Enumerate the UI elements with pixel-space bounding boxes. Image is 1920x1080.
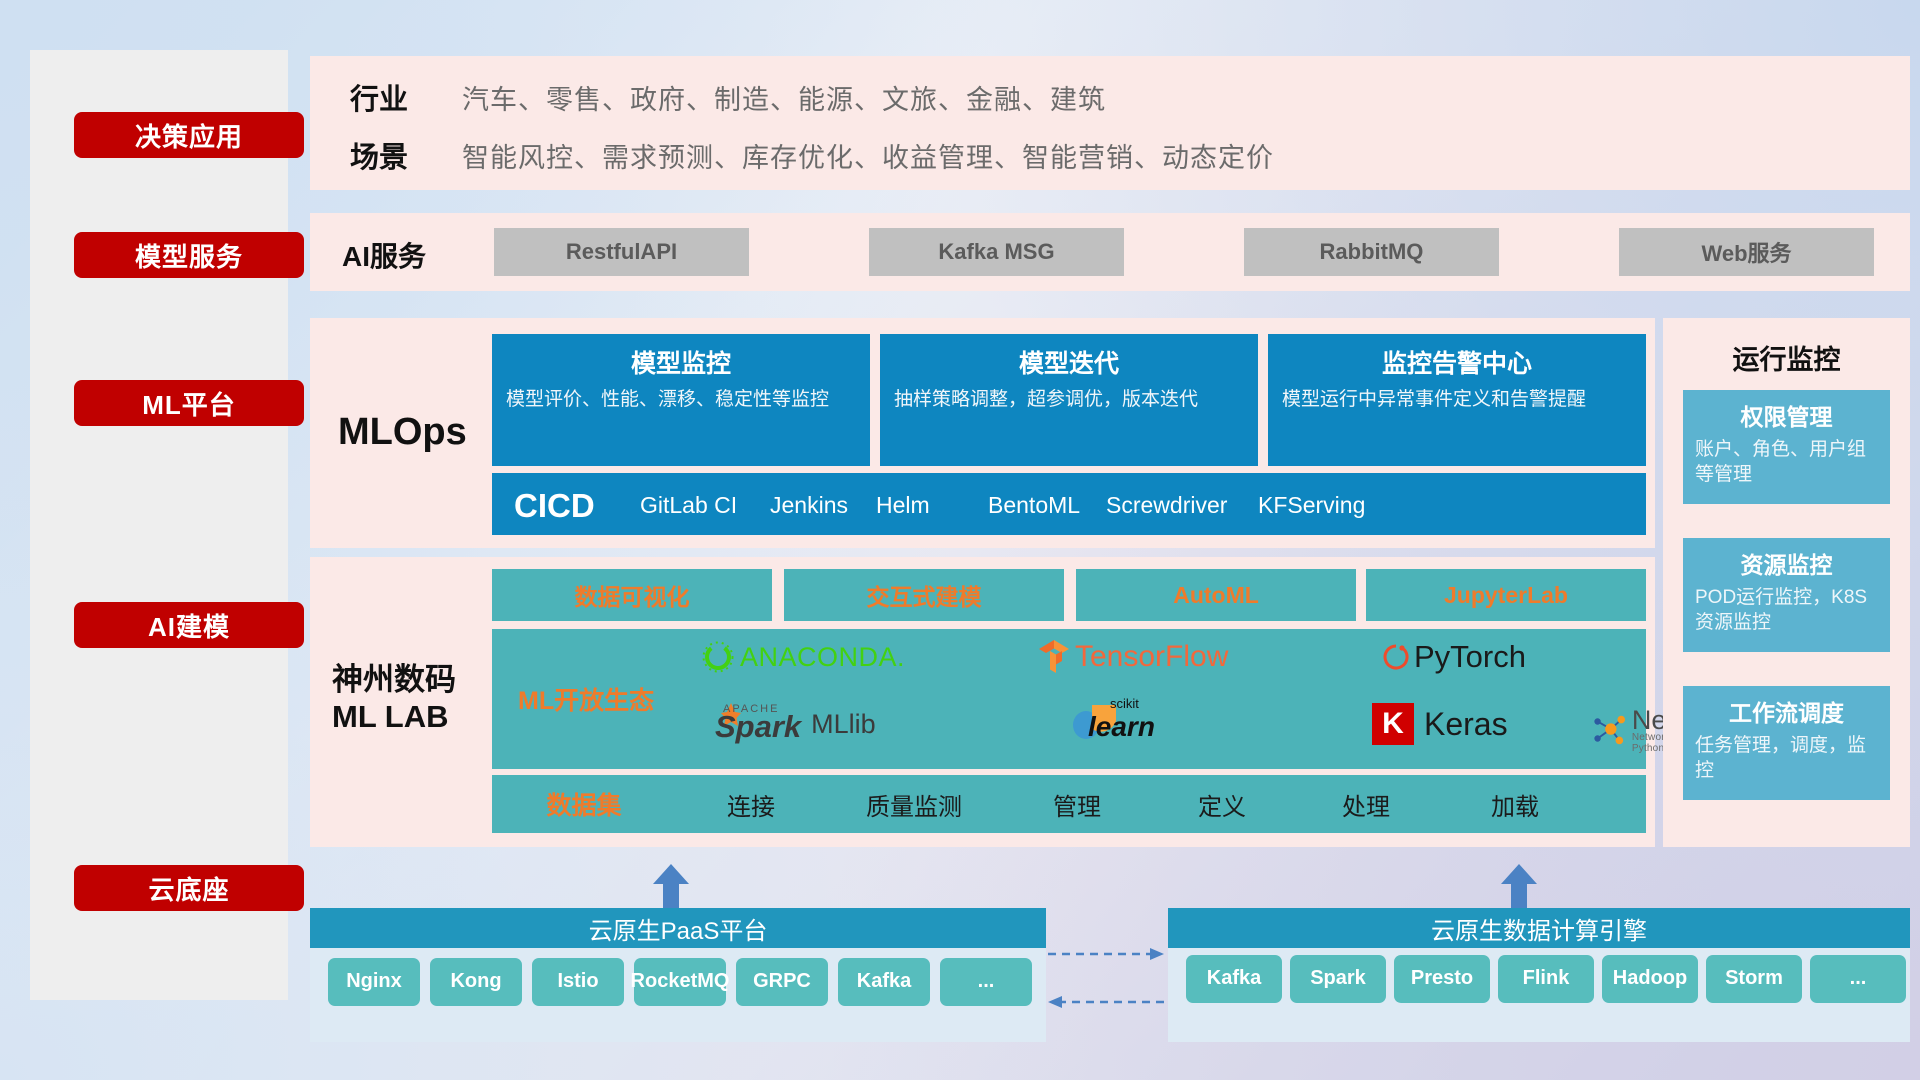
chip-hadoop[interactable]: Hadoop [1602,955,1698,1003]
monitoring-card-permission[interactable]: 权限管理 账户、角色、用户组等管理 [1683,390,1890,504]
spark-mllib-logo: APACHE Spark MLlib [707,703,876,745]
mlops-card-alert-center[interactable]: 监控告警中心 模型运行中异常事件定义和告警提醒 [1268,334,1646,466]
service-label: Kafka MSG [938,239,1054,265]
lab-tab-data-visualization[interactable]: 数据可视化 [492,569,772,621]
rail-label: 模型服务 [135,237,243,274]
cloud-data-engine-title: 云原生数据计算引擎 [1168,908,1910,948]
service-restfulapi[interactable]: RestfulAPI [494,228,749,276]
layer-rail: 决策应用 模型服务 ML平台 AI建模 云底座 [30,50,288,1000]
scenario-label: 场景 [350,134,462,176]
service-label: Web服务 [1701,236,1791,268]
rail-label: 决策应用 [135,117,243,154]
spark-wordmark: Spark [715,709,801,744]
lab-tab-jupyterlab[interactable]: JupyterLab [1366,569,1646,621]
eco-label: ML开放生态 [518,681,654,717]
networkx-mark-icon [1590,711,1628,749]
chip-kong[interactable]: Kong [430,958,522,1006]
tensorflow-logo: TensorFlow [1037,639,1228,675]
rail-label: AI建模 [148,607,230,644]
keras-mark-icon: K [1372,703,1414,745]
dataset-item-load[interactable]: 加载 [1440,787,1590,822]
ai-service-label: AI服务 [342,235,426,275]
ai-service-panel: AI服务 RestfulAPI Kafka MSG RabbitMQ Web服务 [310,213,1910,291]
mlops-panel: MLOps 模型监控 模型评价、性能、漂移、稳定性等监控 模型迭代 抽样策略调整… [310,318,1655,548]
service-kafka-msg[interactable]: Kafka MSG [869,228,1124,276]
cloud-data-engine-title-text: 云原生数据计算引擎 [1431,911,1647,946]
chip-nginx[interactable]: Nginx [328,958,420,1006]
card-desc: 抽样策略调整，超参调优，版本迭代 [894,387,1244,412]
chip-rocketmq[interactable]: RocketMQ [634,958,726,1006]
card-title: 模型监控 [506,344,856,380]
chip-spark[interactable]: Spark [1290,955,1386,1003]
card-desc: 账户、角色、用户组等管理 [1695,438,1878,487]
card-desc: 模型评价、性能、漂移、稳定性等监控 [506,387,856,412]
tab-label: 数据可视化 [575,578,690,612]
architecture-diagram: 决策应用 模型服务 ML平台 AI建模 云底座 行业 汽车、零售、政府、制造、能… [0,0,1920,1080]
pytorch-wordmark: PyTorch [1414,639,1526,675]
cicd-tool-bentoml[interactable]: BentoML [988,473,1106,520]
dataset-label: 数据集 [492,786,676,822]
ml-lab-label-line2: ML LAB [332,699,456,736]
scenario-row: 场景 智能风控、需求预测、库存优化、收益管理、智能营销、动态定价 [350,134,1274,176]
pytorch-mark-icon [1382,641,1410,673]
ml-lab-label: 神州数码 ML LAB [332,662,456,735]
card-desc: POD运行监控，K8S资源监控 [1695,586,1878,635]
cicd-bar: CICD GitLab CI Jenkins Helm BentoML Scre… [492,473,1646,535]
bidirectional-dashed-connector [1046,940,1166,1020]
chip-grpc[interactable]: GRPC [736,958,828,1006]
chip-kafka-engine[interactable]: Kafka [1186,955,1282,1003]
learn-text: learn [1088,711,1155,742]
chip-label: Kong [450,971,501,993]
card-desc: 任务管理，调度，监控 [1695,734,1878,783]
chip-label: Storm [1725,968,1783,990]
monitoring-title: 运行监控 [1663,338,1910,377]
chip-label: Presto [1411,968,1473,990]
rail-item-decision[interactable]: 决策应用 [74,112,304,158]
chip-kafka-paas[interactable]: Kafka [838,958,930,1006]
dataset-item-process[interactable]: 处理 [1292,787,1440,822]
monitoring-card-workflow[interactable]: 工作流调度 任务管理，调度，监控 [1683,686,1890,800]
card-desc: 模型运行中异常事件定义和告警提醒 [1282,387,1632,412]
cicd-tool-kfserving[interactable]: KFServing [1258,473,1398,520]
chip-flink[interactable]: Flink [1498,955,1594,1003]
tab-label: 交互式建模 [867,578,982,612]
cloud-paas-title-text: 云原生PaaS平台 [589,911,768,946]
chip-presto[interactable]: Presto [1394,955,1490,1003]
card-title: 资源监控 [1695,546,1878,580]
industry-label: 行业 [350,76,462,118]
card-title: 模型迭代 [894,344,1244,380]
cicd-tool-gitlab-ci[interactable]: GitLab CI [640,473,770,520]
chip-label: RocketMQ [631,971,730,993]
cicd-tool-helm[interactable]: Helm [876,473,988,520]
chip-label: Nginx [346,971,402,993]
chip-istio[interactable]: Istio [532,958,624,1006]
scikit-learn-wordmark-group: scikit learn [1074,696,1155,743]
chip-label: ... [1850,968,1867,990]
cloud-paas-title: 云原生PaaS平台 [310,908,1046,948]
tensorflow-wordmark: TensorFlow [1075,640,1228,674]
monitoring-card-resource[interactable]: 资源监控 POD运行监控，K8S资源监控 [1683,538,1890,652]
up-arrow-icon-left [648,862,694,908]
card-title: 权限管理 [1695,398,1878,432]
lab-tab-automl[interactable]: AutoML [1076,569,1356,621]
rail-item-model-service[interactable]: 模型服务 [74,232,304,278]
chip-more-engine[interactable]: ... [1810,955,1906,1003]
pytorch-logo: PyTorch [1382,639,1526,675]
service-rabbitmq[interactable]: RabbitMQ [1244,228,1499,276]
mlops-label: MLOps [338,410,467,455]
ml-lab-panel: 神州数码 ML LAB 数据可视化 交互式建模 AutoML JupyterLa… [310,557,1655,847]
chip-label: Spark [1310,968,1366,990]
chip-more-paas[interactable]: ... [940,958,1032,1006]
anaconda-mark-icon [702,641,734,673]
mlops-card-model-monitoring[interactable]: 模型监控 模型评价、性能、漂移、稳定性等监控 [492,334,870,466]
ml-lab-label-line1: 神州数码 [332,662,456,699]
scenario-value: 智能风控、需求预测、库存优化、收益管理、智能营销、动态定价 [462,136,1274,175]
dataset-item-manage[interactable]: 管理 [1002,787,1152,822]
tab-label: JupyterLab [1444,582,1568,609]
chip-label: Kafka [1207,968,1261,990]
card-title: 工作流调度 [1695,694,1878,728]
card-title: 监控告警中心 [1282,344,1632,380]
rail-label: ML平台 [142,385,236,422]
spark-wordmark-group: APACHE Spark [715,703,801,745]
ml-open-ecosystem: ML开放生态 ANACONDA. TensorFlow [492,629,1646,769]
industry-row: 行业 汽车、零售、政府、制造、能源、文旅、金融、建筑 [350,76,1106,118]
service-web[interactable]: Web服务 [1619,228,1874,276]
dataset-bar: 数据集 连接 质量监测 管理 定义 处理 加载 [492,775,1646,833]
cicd-tool-screwdriver[interactable]: Screwdriver [1106,473,1258,520]
mllib-wordmark: MLlib [811,709,876,740]
cicd-tool-jenkins[interactable]: Jenkins [770,473,876,520]
lab-tab-interactive-modeling[interactable]: 交互式建模 [784,569,1064,621]
rail-item-ai-modeling[interactable]: AI建模 [74,602,304,648]
decision-application-panel: 行业 汽车、零售、政府、制造、能源、文旅、金融、建筑 场景 智能风控、需求预测、… [310,56,1910,190]
rail-label: 云底座 [148,870,229,907]
chip-label: Hadoop [1613,968,1687,990]
service-label: RabbitMQ [1320,239,1424,265]
tab-label: AutoML [1173,582,1259,609]
dataset-item-define[interactable]: 定义 [1152,787,1292,822]
keras-logo: K Keras [1372,703,1508,745]
scikit-text: scikit [1094,696,1155,711]
chip-label: Kafka [857,971,911,993]
rail-item-ml-platform[interactable]: ML平台 [74,380,304,426]
chip-label: GRPC [753,971,811,993]
runtime-monitoring-panel: 运行监控 权限管理 账户、角色、用户组等管理 资源监控 POD运行监控，K8S资… [1663,318,1910,847]
anaconda-logo: ANACONDA. [702,641,905,673]
industry-value: 汽车、零售、政府、制造、能源、文旅、金融、建筑 [462,78,1106,117]
service-label: RestfulAPI [566,239,677,265]
chip-storm[interactable]: Storm [1706,955,1802,1003]
keras-wordmark: Keras [1424,706,1508,743]
up-arrow-icon-right [1496,862,1542,908]
rail-item-cloud-base[interactable]: 云底座 [74,865,304,911]
chip-label: ... [978,971,995,993]
anaconda-wordmark: ANACONDA. [740,642,905,673]
tensorflow-mark-icon [1037,639,1071,675]
scikit-learn-logo: scikit learn [1072,699,1155,743]
mlops-card-model-iteration[interactable]: 模型迭代 抽样策略调整，超参调优，版本迭代 [880,334,1258,466]
dataset-item-connect[interactable]: 连接 [676,787,826,822]
chip-label: Flink [1523,968,1570,990]
cicd-label: CICD [492,473,640,525]
chip-label: Istio [557,971,598,993]
dataset-item-quality[interactable]: 质量监测 [826,787,1002,822]
